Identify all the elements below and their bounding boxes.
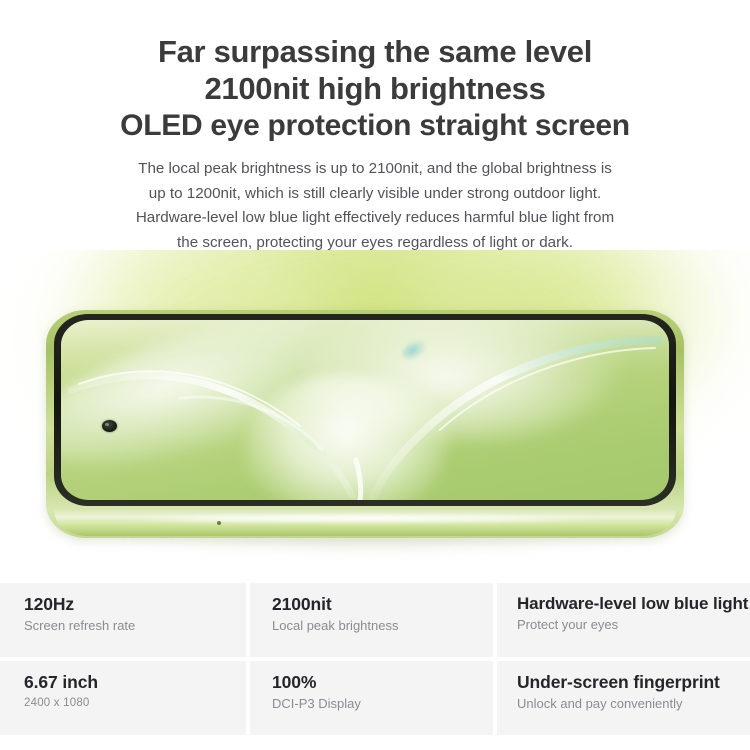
spec-subtitle: Local peak brightness <box>272 614 493 634</box>
phone-screen <box>61 320 669 500</box>
page-title: Far surpassing the same level 2100nit hi… <box>0 0 750 144</box>
phone-bezel <box>54 314 676 506</box>
phone-bottom-rail <box>54 510 676 536</box>
spec-title: 6.67 inch <box>24 672 246 692</box>
spec-title: 120Hz <box>24 594 246 614</box>
spec-card-peak-brightness: 2100nit Local peak brightness <box>250 583 493 657</box>
spec-subtitle: Protect your eyes <box>517 613 750 633</box>
spec-subtitle: Unlock and pay conveniently <box>517 692 750 712</box>
spec-card-color-gamut: 100% DCI-P3 Display <box>250 661 493 735</box>
spec-title: 2100nit <box>272 594 493 614</box>
spec-card-refresh-rate: 120Hz Screen refresh rate <box>0 583 246 657</box>
smartphone-product-image <box>46 310 684 538</box>
description-line-3: Hardware-level low blue light effectivel… <box>0 206 750 231</box>
microphone-hole-icon <box>217 521 221 525</box>
description-line-1: The local peak brightness is up to 2100n… <box>0 157 750 182</box>
wallpaper-liquid-ribbons <box>61 320 669 500</box>
spec-title: 100% <box>272 672 493 692</box>
spec-title: Under-screen fingerprint <box>517 672 750 692</box>
description-line-4: the screen, protecting your eyes regardl… <box>0 231 750 256</box>
spec-title: Hardware-level low blue light <box>517 594 750 613</box>
headline-line-1: Far surpassing the same level <box>0 33 750 70</box>
front-camera-icon <box>102 420 117 432</box>
spec-subtitle: Screen refresh rate <box>24 614 246 634</box>
description-line-2: up to 1200nit, which is still clearly vi… <box>0 182 750 207</box>
spec-card-screen-size: 6.67 inch 2400 x 1080 <box>0 661 246 735</box>
spec-subtitle: DCI-P3 Display <box>272 692 493 712</box>
spec-card-blue-light: Hardware-level low blue light Protect yo… <box>497 583 750 657</box>
rail-gloss-highlight <box>106 515 624 522</box>
spec-subtitle: 2400 x 1080 <box>24 692 246 712</box>
headline-line-2: 2100nit high brightness <box>0 70 750 107</box>
spec-card-fingerprint: Under-screen fingerprint Unlock and pay … <box>497 661 750 735</box>
screen-wallpaper <box>61 320 669 500</box>
hero-description: The local peak brightness is up to 2100n… <box>0 144 750 255</box>
headline-line-3: OLED eye protection straight screen <box>0 107 750 144</box>
hero-section: Far surpassing the same level 2100nit hi… <box>0 0 750 275</box>
product-image-stage <box>0 250 750 580</box>
specification-grid: 120Hz Screen refresh rate 2100nit Local … <box>0 583 750 739</box>
